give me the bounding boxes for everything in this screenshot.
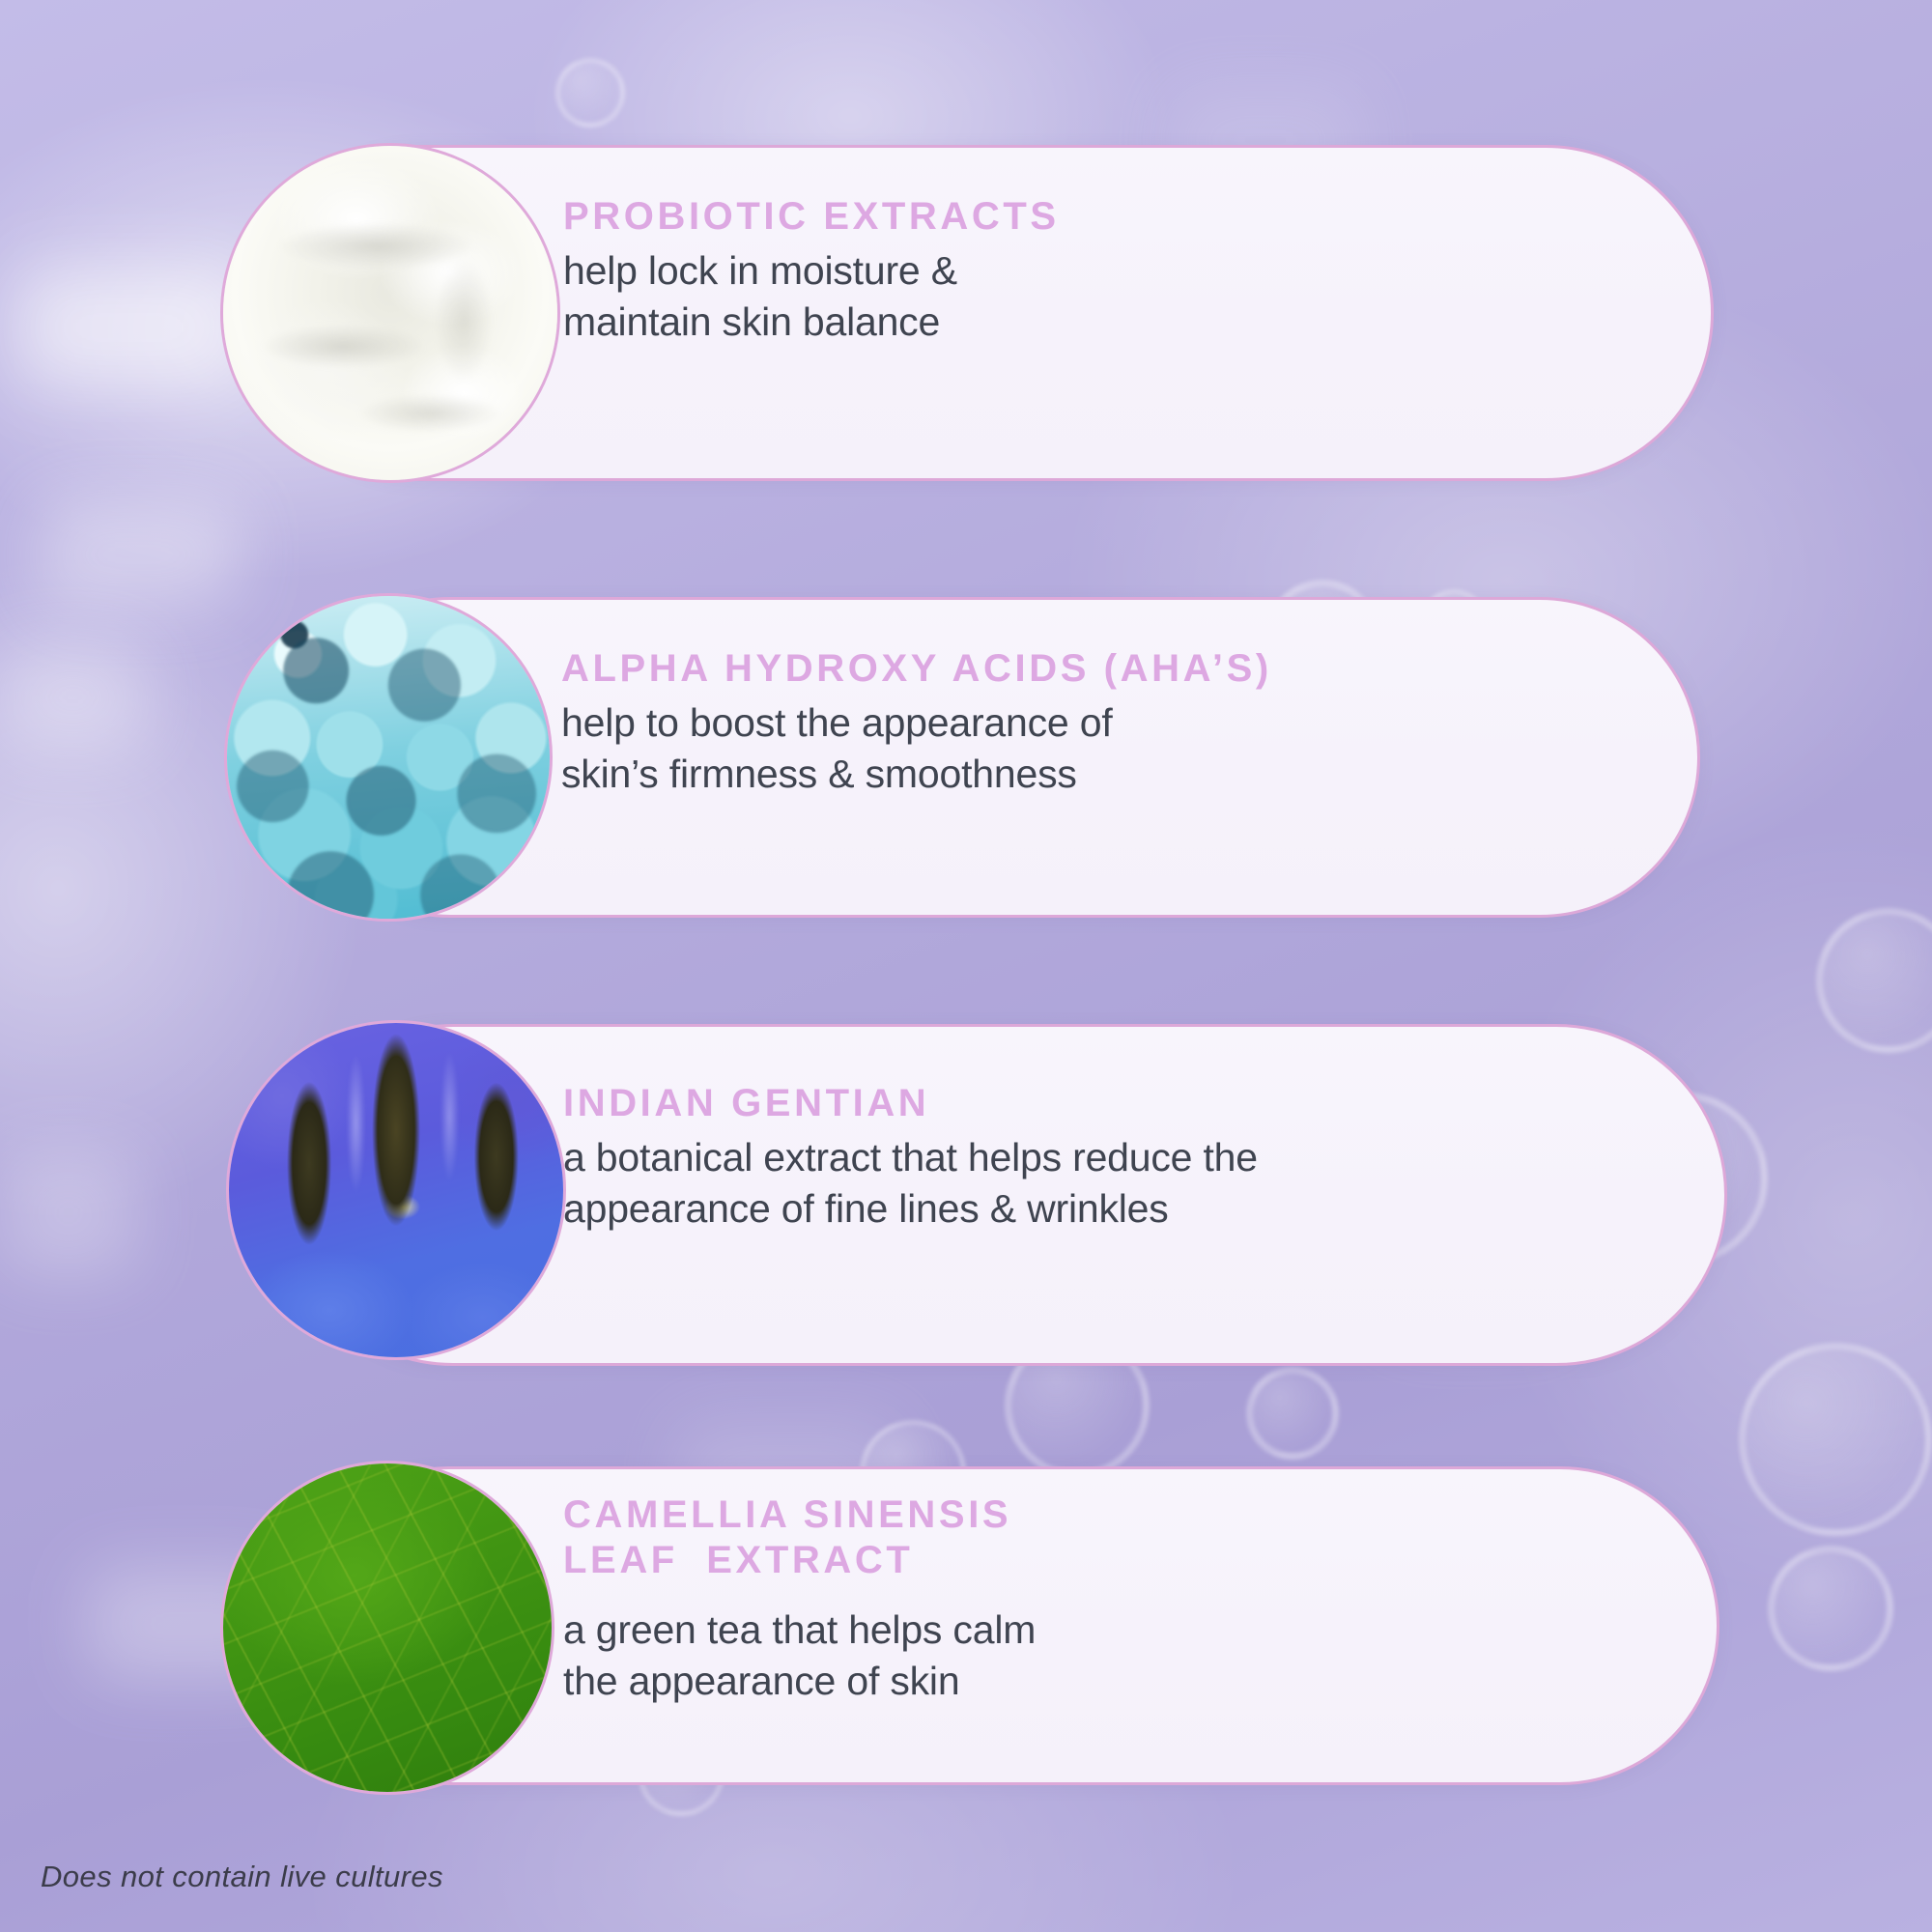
background-light-blob [17, 269, 241, 386]
card-description: help to boost the appearance of skin’s f… [561, 697, 1659, 799]
background-light-blob [39, 502, 238, 607]
background-bubble-icon [1768, 1546, 1893, 1671]
cream-texture [223, 146, 557, 480]
ingredient-benefits-graphic: PROBIOTIC EXTRACTS help lock in moisture… [0, 0, 1932, 1932]
bubbles-image [224, 593, 553, 922]
card-description: a botanical extract that helps reduce th… [563, 1132, 1686, 1234]
green-leaf-image [220, 1461, 554, 1795]
card-heading: PROBIOTIC EXTRACTS [563, 194, 1672, 240]
card-text-block: CAMELLIA SINENSIS LEAF EXTRACT a green t… [563, 1492, 1678, 1706]
leaf-texture [223, 1463, 552, 1792]
background-bubble-icon [1246, 1367, 1339, 1460]
cream-swatch-image [220, 143, 560, 483]
card-text-block: INDIAN GENTIAN a botanical extract that … [563, 1081, 1686, 1234]
flower-texture [229, 1023, 563, 1357]
card-heading: ALPHA HYDROXY ACIDS (AHA’S) [561, 646, 1659, 692]
card-heading: CAMELLIA SINENSIS LEAF EXTRACT [563, 1492, 1678, 1583]
background-light-blob [0, 645, 145, 750]
background-bubble-icon [555, 58, 625, 128]
gentian-flower-image [226, 1020, 566, 1360]
card-text-block: ALPHA HYDROXY ACIDS (AHA’S) help to boos… [561, 646, 1659, 799]
background-light-blob [2, 1151, 135, 1275]
footnote-disclaimer: Does not contain live cultures [41, 1860, 443, 1894]
bubbles-texture [227, 596, 550, 919]
card-heading: INDIAN GENTIAN [563, 1081, 1686, 1126]
card-description: a green tea that helps calm the appearan… [563, 1605, 1678, 1706]
background-bubble-icon [1739, 1343, 1932, 1536]
card-description: help lock in moisture & maintain skin ba… [563, 245, 1672, 347]
card-text-block: PROBIOTIC EXTRACTS help lock in moisture… [563, 194, 1672, 347]
